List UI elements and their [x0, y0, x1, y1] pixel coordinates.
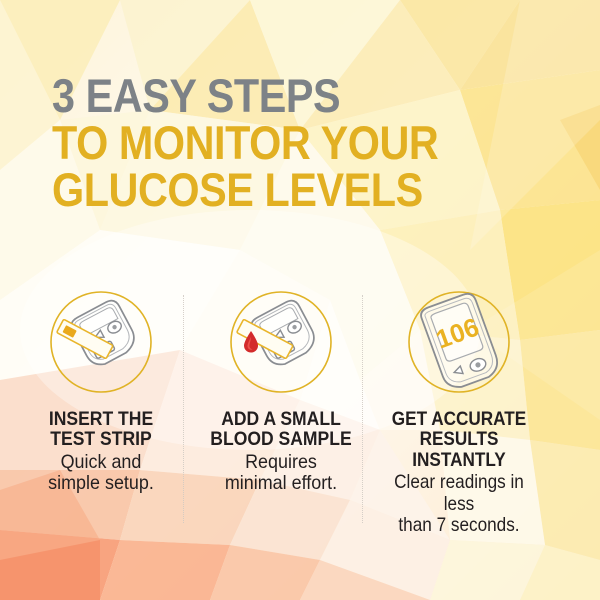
- step-column-1: INSERT THE TEST STRIP Quick and simple s…: [12, 285, 190, 495]
- headline-block: 3 EASY STEPS TO MONITOR YOUR GLUCOSE LEV…: [52, 74, 552, 213]
- step-3-subtitle: Clear readings in less than 7 seconds.: [381, 472, 538, 537]
- step-3-sub-line-1: Clear readings in less: [381, 472, 538, 516]
- step-2-sub-line-1: Requires: [199, 452, 363, 474]
- step-1-sub-line-1: Quick and: [19, 452, 183, 474]
- step-1-title-line-1: INSERT THE: [21, 409, 181, 429]
- steps-row: INSERT THE TEST STRIP Quick and simple s…: [0, 285, 600, 535]
- step-1-title: INSERT THE TEST STRIP: [21, 409, 181, 450]
- step-1-sub-line-2: simple setup.: [19, 473, 183, 495]
- step-2-title-line-2: BLOOD SAMPLE: [201, 429, 361, 449]
- step-3-title: GET ACCURATE RESULTS INSTANTLY: [381, 409, 538, 470]
- step-2-icon-wrap: [192, 285, 370, 403]
- step-2-title: ADD A SMALL BLOOD SAMPLE: [201, 409, 361, 450]
- headline-line-2: TO MONITOR YOUR: [52, 121, 492, 165]
- headline-line-1: 3 EASY STEPS: [52, 74, 492, 118]
- step-2-sub-line-2: minimal effort.: [199, 473, 363, 495]
- step-column-2: ADD A SMALL BLOOD SAMPLE Requires minima…: [192, 285, 370, 495]
- step-1-title-line-2: TEST STRIP: [21, 429, 181, 449]
- step-2-subtitle: Requires minimal effort.: [199, 452, 363, 496]
- glucose-meter-display-reading-icon: 106: [399, 285, 519, 403]
- step-3-title-line-1: GET ACCURATE: [381, 409, 538, 429]
- step-3-icon-wrap: 106: [370, 285, 548, 403]
- step-3-sub-line-2: than 7 seconds.: [381, 515, 538, 537]
- step-1-subtitle: Quick and simple setup.: [19, 452, 183, 496]
- step-1-icon-wrap: [12, 285, 190, 403]
- infographic-poster: 3 EASY STEPS TO MONITOR YOUR GLUCOSE LEV…: [0, 0, 600, 600]
- step-3-title-line-2: RESULTS INSTANTLY: [381, 429, 538, 470]
- step-2-title-line-1: ADD A SMALL: [201, 409, 361, 429]
- step-column-3: 106 GET ACCURATE RESULTS INSTANTLY Clear…: [370, 285, 548, 537]
- glucose-meter-with-blood-drop-icon: [221, 285, 341, 403]
- glucose-meter-with-test-strip-icon: [41, 285, 161, 403]
- headline-line-3: GLUCOSE LEVELS: [52, 168, 492, 212]
